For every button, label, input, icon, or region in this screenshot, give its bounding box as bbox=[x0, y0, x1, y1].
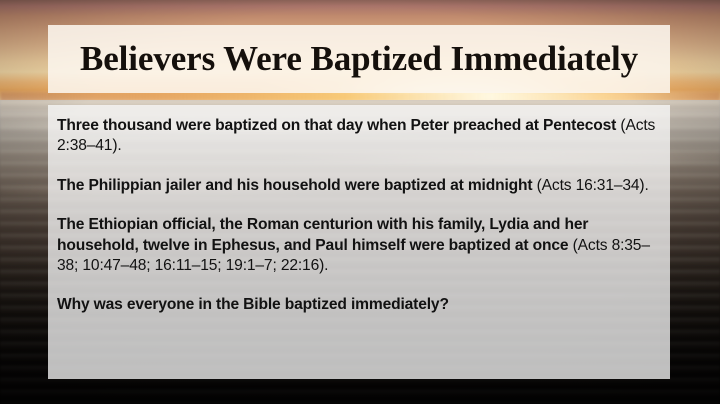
paragraph-ethiopian-and-others: The Ethiopian official, the Roman centur… bbox=[57, 215, 660, 276]
slide-title-box: Believers Were Baptized Immediately bbox=[48, 25, 670, 93]
paragraph-pentecost-statement: Three thousand were baptized on that day… bbox=[57, 117, 620, 134]
paragraph-philippian-jailer: The Philippian jailer and his household … bbox=[57, 176, 660, 196]
presentation-slide: Believers Were Baptized Immediately Thre… bbox=[0, 0, 720, 404]
paragraph-pentecost: Three thousand were baptized on that day… bbox=[57, 116, 660, 157]
slide-title: Believers Were Baptized Immediately bbox=[80, 41, 638, 78]
paragraph-philippian-jailer-statement: The Philippian jailer and his household … bbox=[57, 177, 537, 194]
paragraph-ethiopian-and-others-statement: The Ethiopian official, the Roman centur… bbox=[57, 216, 588, 253]
paragraph-closing-question: Why was everyone in the Bible baptized i… bbox=[57, 295, 660, 315]
paragraph-philippian-jailer-reference: (Acts 16:31–34). bbox=[537, 177, 649, 194]
closing-question-text: Why was everyone in the Bible baptized i… bbox=[57, 296, 449, 313]
slide-body-box: Three thousand were baptized on that day… bbox=[48, 105, 670, 379]
